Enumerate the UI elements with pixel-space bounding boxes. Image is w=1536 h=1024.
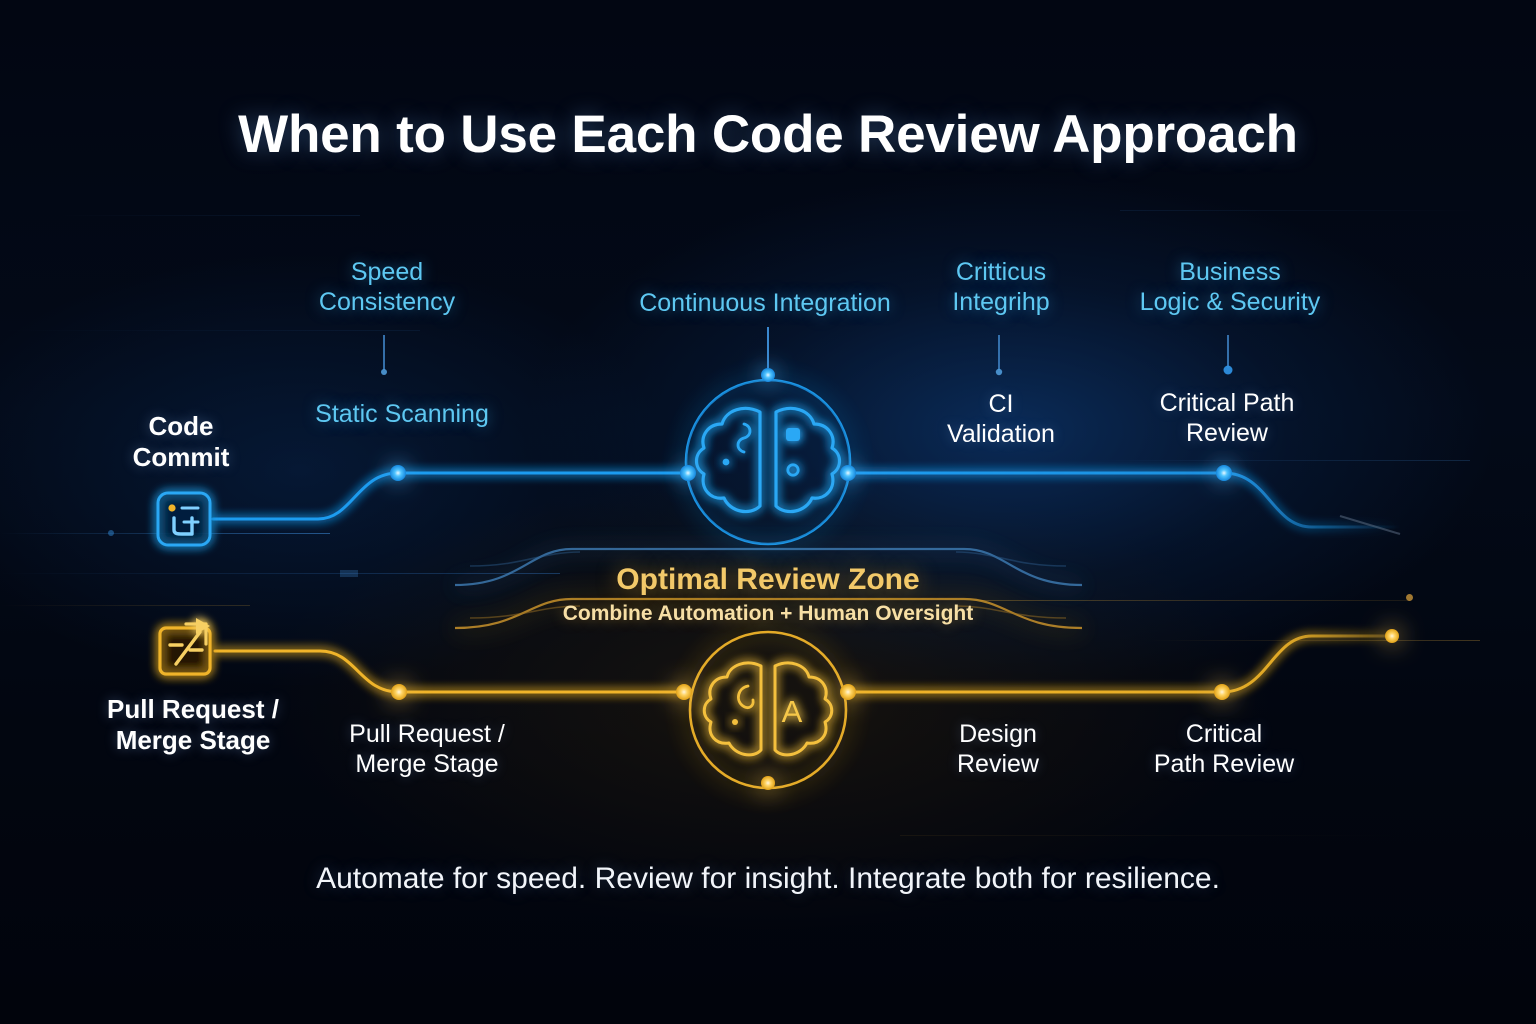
label-connectors (381, 327, 1233, 375)
stage-label-design-review: Design Review (898, 720, 1098, 779)
human-track-path (215, 636, 1392, 692)
stage-label-critical-path-review-human: Critical Path Review (1094, 720, 1354, 779)
human-track-nodes (391, 629, 1399, 700)
start-label-pull-request-merge-stage: Pull Request / Merge Stage (93, 694, 293, 755)
optimal-zone-title: Optimal Review Zone (0, 563, 1536, 597)
brain-letter-a: A (782, 694, 803, 729)
pull-request-icon[interactable] (160, 618, 210, 674)
benefit-label-critticus-integrihp: Critticus Integrihp (901, 258, 1101, 317)
optimal-zone-subtitle: Combine Automation + Human Oversight (0, 602, 1536, 626)
stage-label-static-scanning: Static Scanning (282, 400, 522, 430)
code-commit-icon[interactable] (158, 493, 210, 545)
infographic-canvas: When to Use Each Code Review Approach (0, 0, 1536, 1024)
benefit-label-speed-consistency: Speed Consistency (287, 258, 487, 317)
footer-tagline: Automate for speed. Review for insight. … (0, 862, 1536, 896)
benefit-label-continuous-integration: Continuous Integration (605, 289, 925, 319)
stage-label-pull-request-merge-stage: Pull Request / Merge Stage (307, 720, 547, 779)
gold-ring-node-left (676, 684, 692, 700)
stage-label-ci-validation: CI Validation (901, 390, 1101, 449)
gold-ring-node-right (840, 684, 856, 700)
benefit-label-business-logic-security: Business Logic & Security (1080, 258, 1380, 317)
start-label-code-commit: Code Commit (81, 411, 281, 472)
ring-node-right (840, 465, 856, 481)
stage-label-critical-path-review: Critical Path Review (1097, 389, 1357, 448)
ring-node-left (680, 465, 696, 481)
brain-human-icon: A (676, 632, 856, 790)
brain-circuit-icon (680, 368, 856, 544)
ring-node-top (761, 368, 775, 382)
gold-ring-node-bottom (761, 776, 775, 790)
